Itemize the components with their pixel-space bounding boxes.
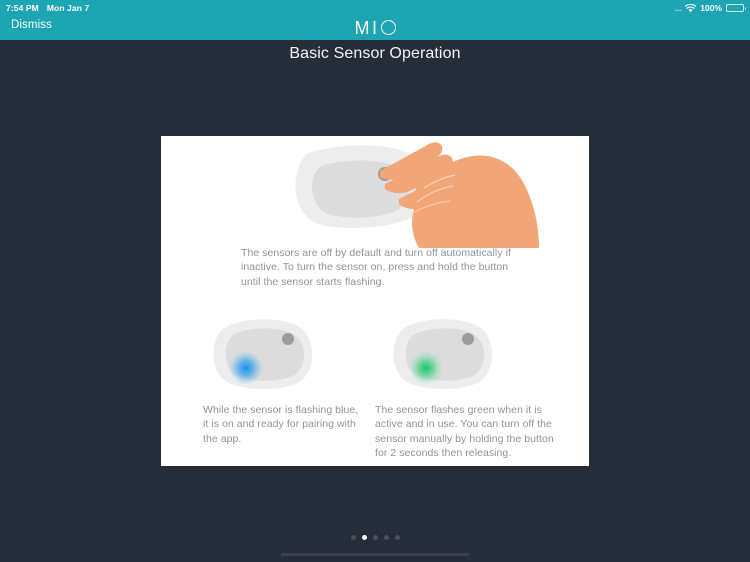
- page-dot[interactable]: [395, 535, 400, 540]
- page-dot[interactable]: [351, 535, 356, 540]
- panel-blue: While the sensor is flashing blue, it is…: [203, 311, 363, 446]
- instruction-card: The sensors are off by default and turn …: [161, 136, 589, 466]
- status-bar: 7:54 PM Mon Jan 7 .... 100%: [0, 0, 750, 16]
- top-navigation-bar: Dismiss MI: [0, 16, 750, 40]
- status-bar-left: 7:54 PM Mon Jan 7: [6, 3, 89, 13]
- status-time: 7:54 PM: [6, 3, 39, 13]
- panel-green: The sensor flashes green when it is acti…: [375, 311, 569, 461]
- page-title: Basic Sensor Operation: [0, 45, 750, 63]
- sensor-flashing-green-illustration: [383, 311, 507, 395]
- panel-blue-text: While the sensor is flashing blue, it is…: [203, 403, 359, 446]
- wifi-icon: [685, 4, 696, 13]
- signal-dots-icon: ....: [674, 4, 681, 13]
- panel-green-text: The sensor flashes green when it is acti…: [375, 403, 567, 461]
- sensor-flashing-blue-illustration: [203, 311, 327, 395]
- brand-logo-ring-icon: [381, 20, 396, 35]
- page-dot-active[interactable]: [362, 535, 367, 540]
- main-instruction-text: The sensors are off by default and turn …: [241, 246, 513, 289]
- home-indicator[interactable]: [281, 553, 469, 556]
- battery-percent-label: 100%: [700, 3, 722, 13]
- mio-brand-logo: MI: [0, 17, 750, 39]
- brand-logo-text: MI: [355, 18, 380, 38]
- status-bar-right: .... 100%: [674, 3, 744, 13]
- page-dot[interactable]: [373, 535, 378, 540]
- battery-icon: [726, 4, 744, 12]
- page-dot[interactable]: [384, 535, 389, 540]
- hand-pressing-sensor-illustration: [161, 136, 589, 248]
- page-indicator[interactable]: [0, 535, 750, 540]
- status-date: Mon Jan 7: [47, 3, 89, 13]
